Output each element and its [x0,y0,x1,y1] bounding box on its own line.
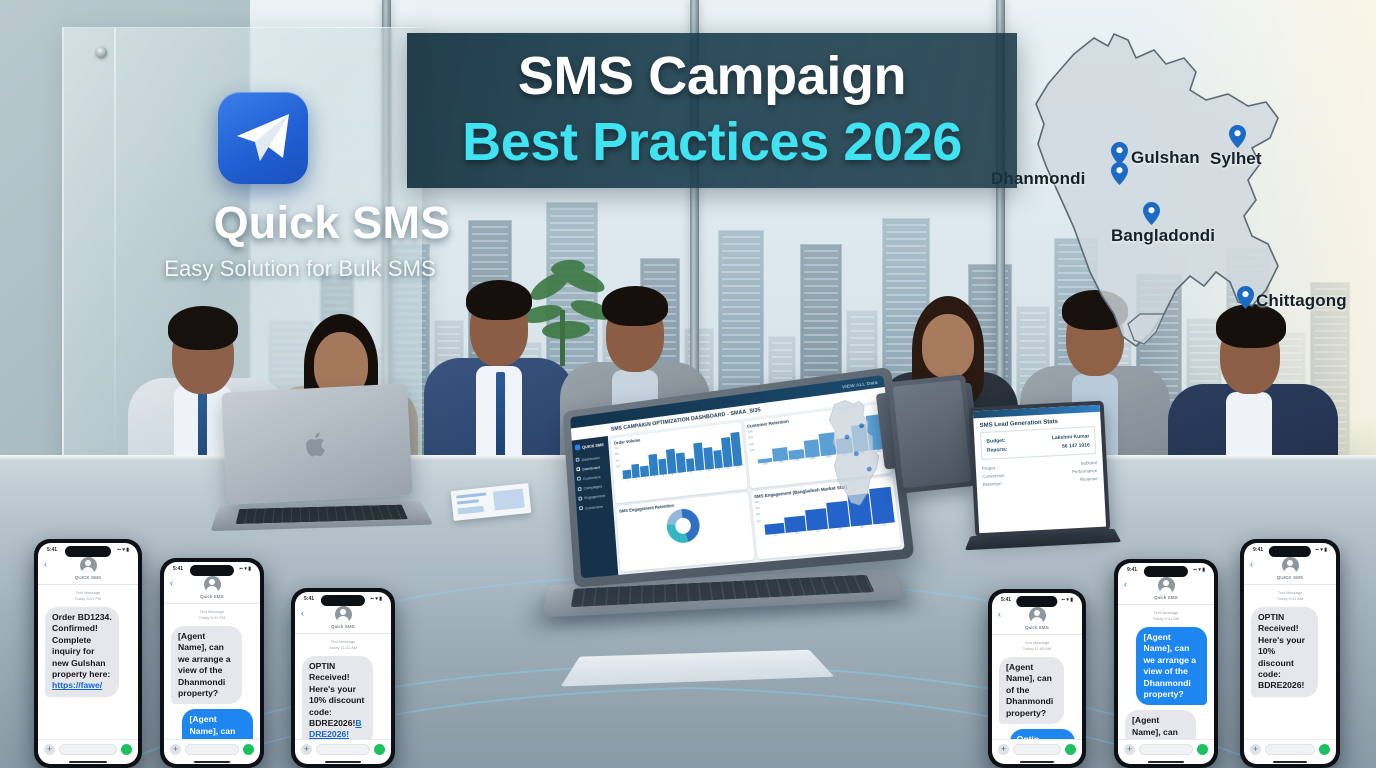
x-tick: 1760 [774,461,789,465]
x-tick: Q2 [786,531,807,535]
megaphone-icon [578,487,582,491]
status-icons: ▪▪ ▾ ▮ [1061,597,1073,603]
plus-icon[interactable]: + [170,744,181,755]
bar [694,443,705,471]
x-tick: 1740 [758,463,773,467]
phone-mockup-6[interactable]: 9:41▪▪ ▾ ▮‹QUICK SMSText MessageToday 9:… [1240,539,1340,768]
poster-canvas: VIEW ALL Data SMS CAMPAIGN OPTIMIZATION … [0,0,1376,768]
status-time: 5:41 [173,566,183,572]
x-tick: 13 [734,466,743,469]
x-tick: 7 [678,473,686,476]
card-order-volume: Order Volume 700 500 300 100 12345678910… [611,422,747,503]
status-time: 5:41 [1001,597,1011,603]
x-tick: 1780 [789,459,804,463]
home-indicator [295,760,391,764]
bar [703,448,713,470]
hero-laptop[interactable]: VIEW ALL Data SMS CAMPAIGN OPTIMIZATION … [548,388,903,628]
conversation-header: ‹QUICK SMS [38,554,138,585]
message-bubble: Optin received property! [1010,729,1075,739]
back-icon[interactable]: ‹ [998,610,1001,619]
bar [713,450,723,469]
message-bubble: [Agent Name], can we arrange a view of t… [182,709,253,739]
bar [772,447,788,462]
conversation-header: ‹Quick SMS [164,573,260,604]
contact-name: Quick SMS [992,625,1082,630]
conversation-header: ‹QUICK SMS [1244,554,1336,585]
status-time: 9:41 [1127,567,1137,573]
bar [666,449,676,474]
message-input[interactable] [316,744,370,755]
card-engagement-donut: SMS Engagement Retention [616,491,754,571]
message-thread: [Agent Name], can we arrange a view of t… [1118,625,1214,739]
bar [631,463,640,478]
plus-icon[interactable]: + [1250,744,1261,755]
plus-icon[interactable]: + [998,744,1009,755]
conversation-header: ‹Quick SMS [992,604,1082,635]
status-icons: ▪▪ ▾ ▮ [1315,547,1327,553]
avatar [80,557,97,574]
message-bubble: [Agent Name], can of the Dhanmondi prope… [999,657,1064,724]
home-indicator [164,760,260,764]
conversation-header: ‹Quick SMS [1118,574,1214,605]
message-bubble: [Agent Name], can we arrange a view of t… [1136,627,1207,705]
avatar [335,606,352,623]
bar [648,453,658,476]
bar [788,449,804,460]
bar [676,453,686,473]
send-icon[interactable] [374,744,385,755]
x-tick: 8 [687,472,695,475]
message-thread: [Agent Name], can of the Dhanmondi prope… [992,655,1082,739]
x-tick: 2 [632,478,640,481]
gear-icon [579,506,583,510]
thread-timestamp: Text MessageToday 9:41 AM [1118,605,1214,625]
contact-name: QUICK SMS [38,575,138,580]
grid-icon [576,467,580,471]
message-thread: Order BD1234. Confirmed! Complete inquir… [38,605,138,739]
send-icon[interactable] [1319,744,1330,755]
thread-timestamp: Text MessageToday 11:05 AM [992,635,1082,655]
left-laptop[interactable] [224,388,434,538]
tablet-stats-box: Budget: Lakshmi Kumar Reports: 56 147 10… [980,426,1096,460]
secondary-tablet[interactable] [887,374,976,494]
send-icon[interactable] [1197,744,1208,755]
x-tick: 4 [650,476,658,479]
message-input[interactable] [1013,744,1061,755]
x-tick: 11 [715,469,724,472]
laptop-lid: VIEW ALL Data SMS CAMPAIGN OPTIMIZATION … [563,367,915,588]
chart-icon [578,496,582,500]
x-tick: 1800 [805,457,820,461]
bar [640,465,649,477]
title-banner: SMS Campaign Best Practices 2026 [407,33,1017,188]
grid-icon [576,458,580,462]
avatar [1158,577,1175,594]
back-icon[interactable]: ‹ [1124,580,1127,589]
thread-timestamp: Text MessageToday 9:41 AM [1244,585,1336,605]
message-input[interactable] [185,744,239,755]
message-input[interactable] [1265,744,1315,755]
contact-name: Quick SMS [164,594,260,599]
status-icons: ▪▪ ▾ ▮ [370,596,382,602]
bar [805,509,828,531]
quick-sms-logo [218,92,308,184]
status-time: 5:41 [304,596,314,602]
status-icons: ▪▪ ▾ ▮ [239,566,251,572]
back-icon[interactable]: ‹ [170,579,173,588]
x-tick: 1 [623,479,631,482]
home-indicator [1118,760,1214,764]
x-tick: 9 [696,471,705,474]
avatar [1282,557,1299,574]
message-input[interactable] [1139,744,1193,755]
glass-mount-stud [96,47,107,58]
message-input[interactable] [59,744,117,755]
map-pin-chittagong[interactable] [1237,286,1254,309]
dashboard-screen[interactable]: VIEW ALL Data SMS CAMPAIGN OPTIMIZATION … [570,375,905,578]
status-icons: ▪▪ ▾ ▮ [117,547,129,553]
tablet-screen[interactable]: SMS Lead Generation Stats Budget: Lakshm… [969,401,1111,538]
send-icon[interactable] [121,744,132,755]
brand-mark-icon [575,444,581,450]
bar [658,459,667,475]
brand-name: Quick SMS [162,197,502,249]
message-composer[interactable]: + [1118,739,1214,760]
banner-title-line2: Best Practices 2026 [407,111,1017,173]
contact-name: QUICK SMS [1244,575,1336,580]
message-link[interactable]: https://fawe/ [52,680,102,690]
map-label-chittagong: Chittagong [1256,291,1347,311]
map-label-gulshan: Gulshan [1131,148,1200,168]
conversation-header: ‹Quick SMS [295,603,391,634]
donut-chart [665,507,701,544]
map-label-bangladondi: Bangladondi [1111,226,1215,246]
x-tick: 6 [668,474,676,477]
x-tick: 10 [705,470,714,473]
brand-tagline: Easy Solution for Bulk SMS [100,256,500,282]
plus-icon[interactable]: + [1124,744,1135,755]
map-pin-sylhet[interactable] [1229,125,1246,148]
message-bubble: [Agent Name], can we arrange a view of t… [171,626,242,704]
phone-mockup-4[interactable]: 5:41▪▪ ▾ ▮‹Quick SMSText MessageToday 11… [988,589,1086,768]
x-tick: Q1 [765,533,785,537]
message-bubble: OPTIN Received! Here's your 10% discount… [302,656,373,739]
avatar [204,576,221,593]
home-indicator [992,760,1082,764]
avatar [1029,607,1046,624]
dashboard-sidebar-brand: QUICK SMS [572,439,609,453]
message-composer[interactable]: + [1244,739,1336,760]
message-bubble: [Agent Name], can we arrange a view of t… [1125,710,1196,739]
back-icon[interactable]: ‹ [1250,560,1253,569]
bar [803,439,820,458]
apple-logo-icon [305,431,328,458]
bar [622,470,631,479]
message-thread: [Agent Name], can we arrange a view of t… [164,624,260,739]
map-label-sylhet: Sylhet [1210,149,1262,169]
message-composer[interactable]: + [38,739,138,760]
home-indicator [1244,760,1336,764]
thread-timestamp: Text MessageToday 5:41 PM [38,585,138,605]
thread-timestamp: Text MessageToday 5:41 PM [164,604,260,624]
message-composer[interactable]: + [992,739,1082,760]
back-icon[interactable]: ‹ [44,560,47,569]
thread-timestamp: Text MessageToday 11:22 AM [295,634,391,654]
message-composer[interactable]: + [164,739,260,760]
contact-name: Quick SMS [295,624,391,629]
message-thread: OPTIN Received! Here's your 10% discount… [1244,605,1336,739]
paper-plane-icon [234,110,292,166]
bangladesh-map-overlay: Gulshan Dhanmondi Sylhet Bangladondi Chi… [1016,14,1346,364]
map-pin-bangladondi[interactable] [1143,202,1160,225]
x-tick: 12 [724,467,733,470]
x-tick: 3 [641,477,649,480]
message-thread: OPTIN Received! Here's your 10% discount… [295,654,391,739]
bar [686,458,695,472]
home-indicator [38,760,138,764]
people-icon [577,477,581,481]
message-link[interactable]: BDRE2026! [309,718,362,739]
status-time: 9:41 [1253,547,1263,553]
x-tick: 5 [659,475,667,478]
phone-mockup-1[interactable]: 5:41▪▪ ▾ ▮‹QUICK SMSText MessageToday 5:… [34,539,142,768]
status-icons: ▪▪ ▾ ▮ [1193,567,1205,573]
send-icon[interactable] [243,744,254,755]
banner-title-line1: SMS Campaign [407,45,1017,107]
tablet-device[interactable]: SMS Lead Generation Stats Budget: Lakshm… [969,401,1111,538]
phone-mockup-3[interactable]: 5:41▪▪ ▾ ▮‹Quick SMSText MessageToday 11… [291,588,395,768]
message-bubble: OPTIN Received! Here's your 10% discount… [1251,607,1318,697]
map-pin-dhanmondi[interactable] [1111,162,1128,185]
plus-icon[interactable]: + [301,744,312,755]
plus-icon[interactable]: + [44,744,55,755]
message-bubble: Order BD1234. Confirmed! Complete inquir… [45,607,119,697]
phone-mockup-2[interactable]: 5:41▪▪ ▾ ▮‹Quick SMSText MessageToday 5:… [160,558,264,768]
contact-name: Quick SMS [1118,595,1214,600]
send-icon[interactable] [1065,744,1076,755]
bar [785,516,807,532]
back-icon[interactable]: ‹ [301,609,304,618]
phone-mockup-5[interactable]: 9:41▪▪ ▾ ▮‹Quick SMSText MessageToday 9:… [1114,559,1218,768]
status-time: 5:41 [47,547,57,553]
message-composer[interactable]: + [295,739,391,760]
